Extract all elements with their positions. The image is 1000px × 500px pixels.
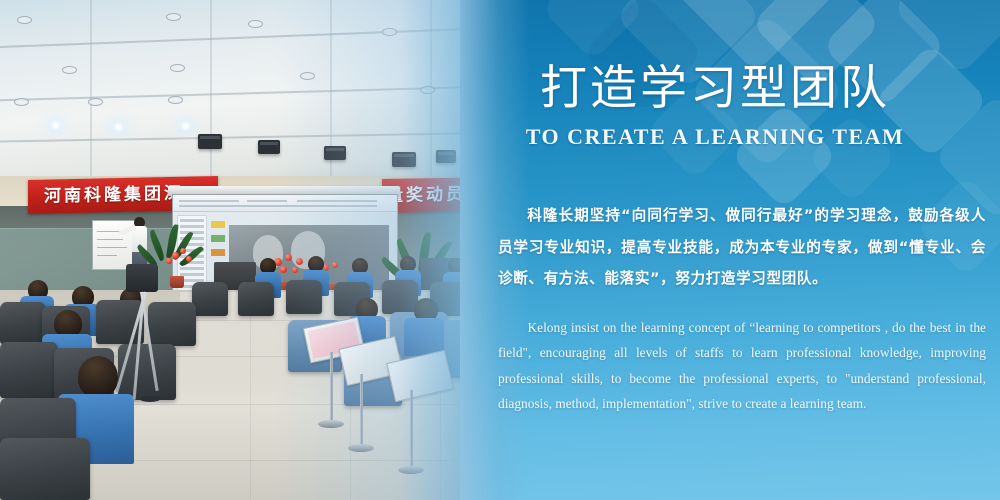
ceiling-downlight (166, 13, 181, 21)
sign-stand-base (348, 444, 374, 452)
sign-stand-base (398, 466, 424, 474)
tripod-base (140, 396, 160, 402)
ceiling-speaker (324, 146, 346, 160)
auditorium-seat (382, 280, 418, 314)
floor-tile-line (250, 290, 251, 500)
slide-accent-chip (211, 221, 225, 228)
ceiling-speaker (392, 152, 416, 167)
sign-stand-pole (410, 390, 413, 470)
ceiling-downlight (300, 72, 315, 80)
auditorium-seat (0, 342, 58, 398)
auditorium-seat (148, 302, 196, 346)
flower (172, 252, 179, 259)
video-camera (126, 264, 158, 292)
slide-toolbar-line (297, 200, 377, 202)
ceiling-spotlight (50, 120, 61, 130)
page-subtitle: TO CREATE A LEARNING TEAM (460, 124, 970, 150)
paragraph-english: Kelong insist on the learning concept of… (498, 315, 986, 417)
ceiling-speaker (258, 140, 280, 154)
body-block: 科隆长期坚持“向同行学习、做同行最好”的学习理念，鼓励各级人员学习专业知识，提高… (498, 200, 986, 417)
flower (285, 254, 292, 261)
ceiling-downlight (170, 64, 185, 72)
auditorium-seat (192, 282, 228, 316)
panel-content: 打造学习型团队 TO CREATE A LEARNING TEAM 科隆长期坚持… (460, 0, 1000, 500)
paragraph-chinese: 科隆长期坚持“向同行学习、做同行最好”的学习理念，鼓励各级人员学习专业知识，提高… (498, 200, 986, 295)
audience-head (78, 356, 118, 398)
sign-stand-pole (330, 352, 333, 424)
flower-pot (170, 276, 184, 288)
title-block: 打造学习型团队 TO CREATE A LEARNING TEAM (460, 62, 970, 150)
slide-toolbar-line (247, 200, 287, 202)
sign-stand-base (318, 420, 344, 428)
ceiling-spotlight (113, 122, 124, 132)
ceiling-panel-joint (90, 0, 92, 182)
ceiling-speaker (436, 150, 456, 163)
ceiling-downlight (382, 28, 397, 36)
flower (292, 267, 298, 273)
ceiling-panel-joint (210, 0, 212, 182)
sign-stand-pole (360, 374, 363, 448)
flower (280, 266, 287, 273)
flower (166, 258, 172, 264)
slide-toolbar-line (179, 200, 239, 202)
page-title: 打造学习型团队 (460, 62, 970, 116)
ceiling-speaker (198, 134, 222, 149)
learning-team-banner: 河南科隆集团深 量奖动员大会 (0, 0, 1000, 500)
slide-toolbar (173, 195, 397, 212)
flower (332, 262, 338, 268)
flower (180, 248, 186, 254)
auditorium-seat (286, 280, 322, 314)
ceiling-spotlight (180, 121, 191, 131)
ceiling-downlight (420, 86, 435, 94)
ceiling-downlight (88, 98, 103, 106)
auditorium-seat (0, 438, 90, 500)
flower (186, 256, 192, 262)
slide-accent-chip (211, 235, 225, 242)
ceiling-downlight (62, 66, 77, 74)
slide-accent-chip (211, 249, 225, 256)
ceiling-downlight (168, 96, 183, 104)
conference-hall-photo: 河南科隆集团深 量奖动员大会 (0, 0, 500, 500)
auditorium-seat (238, 282, 274, 316)
flower (296, 258, 303, 265)
ceiling-downlight (17, 16, 32, 24)
ceiling-downlight (14, 98, 29, 106)
auditorium-seat (0, 302, 46, 344)
slide-toolbar-line (179, 205, 377, 207)
ceiling-downlight (248, 20, 263, 28)
text-panel: 打造学习型团队 TO CREATE A LEARNING TEAM 科隆长期坚持… (460, 0, 1000, 500)
